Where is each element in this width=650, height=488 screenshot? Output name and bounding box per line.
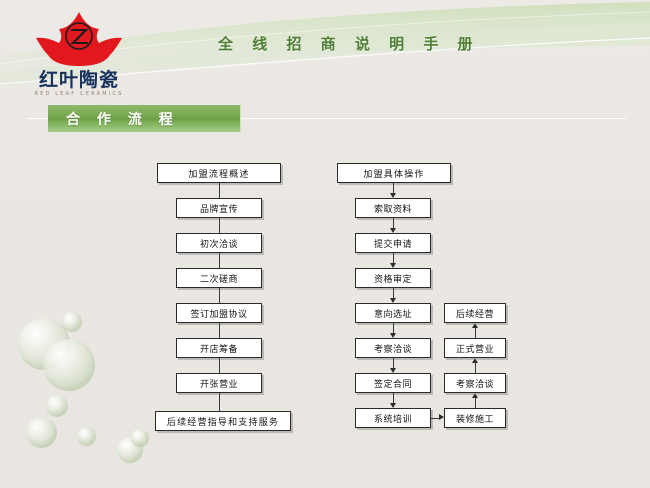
connector — [219, 393, 220, 411]
connector — [475, 327, 476, 338]
flow-node-col1-heading[interactable]: 加盟流程概述 — [157, 163, 281, 183]
flow-node-col3-2[interactable]: 正式营业 — [444, 338, 506, 358]
connector — [219, 358, 220, 373]
connector — [219, 253, 220, 268]
connector — [219, 218, 220, 233]
connector — [219, 288, 220, 303]
slide-canvas: 红叶陶瓷 RED LEAF CERAMICS 全 线 招 商 说 明 手 册 合… — [0, 0, 650, 488]
flow-node-col2-1[interactable]: 提交申请 — [355, 233, 431, 253]
arrow-up-icon — [472, 393, 478, 398]
connector — [475, 362, 476, 373]
connector — [475, 397, 476, 408]
flow-node-col3-0[interactable]: 装修施工 — [444, 408, 506, 428]
flow-node-col1-0[interactable]: 品牌宣传 — [176, 198, 262, 218]
flow-node-col1-4[interactable]: 开店筹备 — [176, 338, 262, 358]
flow-node-col2-0[interactable]: 索取资料 — [355, 198, 431, 218]
flow-node-col1-1[interactable]: 初次洽谈 — [176, 233, 262, 253]
flow-node-col1-6[interactable]: 后续经营指导和支持服务 — [155, 411, 291, 431]
arrow-up-icon — [472, 358, 478, 363]
flow-node-col2-4[interactable]: 考察洽谈 — [355, 338, 431, 358]
arrow-up-icon — [472, 323, 478, 328]
flow-node-col2-6[interactable]: 系统培训 — [355, 408, 431, 428]
flow-node-col2-5[interactable]: 签定合同 — [355, 373, 431, 393]
flowchart: 加盟流程概述 品牌宣传 初次洽谈 二次磋商 签订加盟协议 开店筹备 开张营业 后… — [0, 0, 650, 488]
flow-node-col2-heading[interactable]: 加盟具体操作 — [337, 163, 451, 183]
flow-node-col1-5[interactable]: 开张营业 — [176, 373, 262, 393]
flow-node-col1-2[interactable]: 二次磋商 — [176, 268, 262, 288]
flow-node-col1-3[interactable]: 签订加盟协议 — [176, 303, 262, 323]
connector — [219, 323, 220, 338]
flow-node-col2-2[interactable]: 资格审定 — [355, 268, 431, 288]
flow-node-col3-3[interactable]: 后续经营 — [444, 303, 506, 323]
flow-node-col3-1[interactable]: 考察洽谈 — [444, 373, 506, 393]
connector — [219, 183, 220, 198]
flow-node-col2-3[interactable]: 意向选址 — [355, 303, 431, 323]
